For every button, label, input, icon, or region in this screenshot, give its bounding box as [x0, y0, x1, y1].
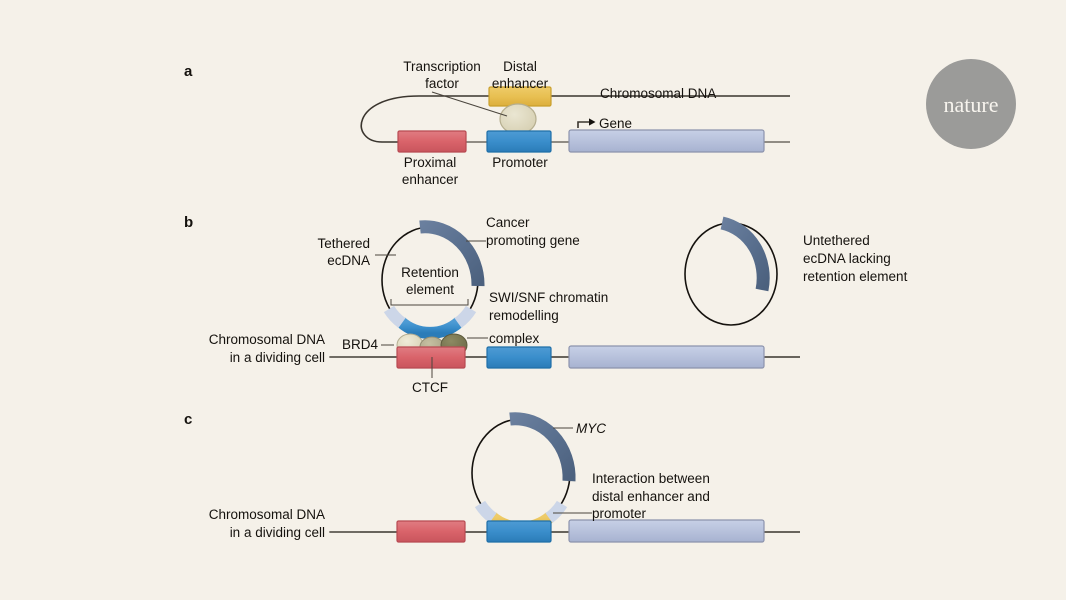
panel-a-letter: a	[184, 63, 193, 80]
nature-logo: nature	[926, 59, 1016, 149]
label-chromosomal-dna-a: Chromosomal DNA	[600, 86, 716, 101]
label-brd4: BRD4	[342, 337, 379, 352]
proximal-enhancer-box-c	[397, 521, 465, 542]
promoter-box-b	[487, 347, 551, 368]
gene-body-box-a	[569, 130, 764, 152]
promoter-box-a	[487, 131, 551, 152]
transcription-factor-oval	[500, 104, 536, 134]
ecdna-figure-svg: nature a Transcription factor Distal enh…	[0, 0, 1066, 600]
label-cancer-gene-line2: promoting gene	[486, 233, 580, 248]
label-swisnf-line2: remodelling	[489, 308, 559, 323]
label-gene-a: Gene	[599, 116, 632, 131]
label-transcription-factor-line1: Transcription	[403, 59, 481, 74]
panel-c-letter: c	[184, 411, 192, 428]
figure-container: nature a Transcription factor Distal enh…	[0, 0, 1066, 600]
label-proximal-enhancer-line2: enhancer	[402, 172, 459, 187]
label-cancer-gene-line1: Cancer	[486, 215, 530, 230]
label-distal-enhancer-line2: enhancer	[492, 76, 549, 91]
label-untethered-line2: ecDNA lacking	[803, 251, 891, 266]
label-swisnf-line1: SWI/SNF chromatin	[489, 290, 608, 305]
label-chromosomal-dna-b-line1: Chromosomal DNA	[209, 332, 325, 347]
label-interaction-line1: Interaction between	[592, 471, 710, 486]
label-distal-enhancer-line1: Distal	[503, 59, 537, 74]
label-promoter-a: Promoter	[492, 155, 548, 170]
label-transcription-factor-line2: factor	[425, 76, 459, 91]
label-chromosomal-dna-c-line2: in a dividing cell	[230, 525, 325, 540]
label-retention-element-line2: element	[406, 282, 454, 297]
promoter-box-c	[487, 521, 551, 542]
label-untethered-line1: Untethered	[803, 233, 870, 248]
label-chromosomal-dna-b-line2: in a dividing cell	[230, 350, 325, 365]
label-swisnf-line3: complex	[489, 331, 540, 346]
proximal-enhancer-box-a	[398, 131, 466, 152]
label-interaction-line3: promoter	[592, 506, 647, 521]
label-tethered-ecdna-line2: ecDNA	[327, 253, 370, 268]
label-ctcf: CTCF	[412, 380, 448, 395]
label-chromosomal-dna-c-line1: Chromosomal DNA	[209, 507, 325, 522]
panel-b-letter: b	[184, 214, 193, 231]
proximal-enhancer-box-b	[397, 347, 465, 368]
label-myc: MYC	[576, 421, 606, 436]
label-retention-element-line1: Retention	[401, 265, 459, 280]
label-interaction-line2: distal enhancer and	[592, 489, 710, 504]
label-proximal-enhancer-line1: Proximal	[404, 155, 457, 170]
nature-logo-text: nature	[944, 92, 999, 117]
gene-body-box-b	[569, 346, 764, 368]
label-tethered-ecdna-line1: Tethered	[317, 236, 370, 251]
label-untethered-line3: retention element	[803, 269, 908, 284]
gene-body-box-c	[569, 520, 764, 542]
